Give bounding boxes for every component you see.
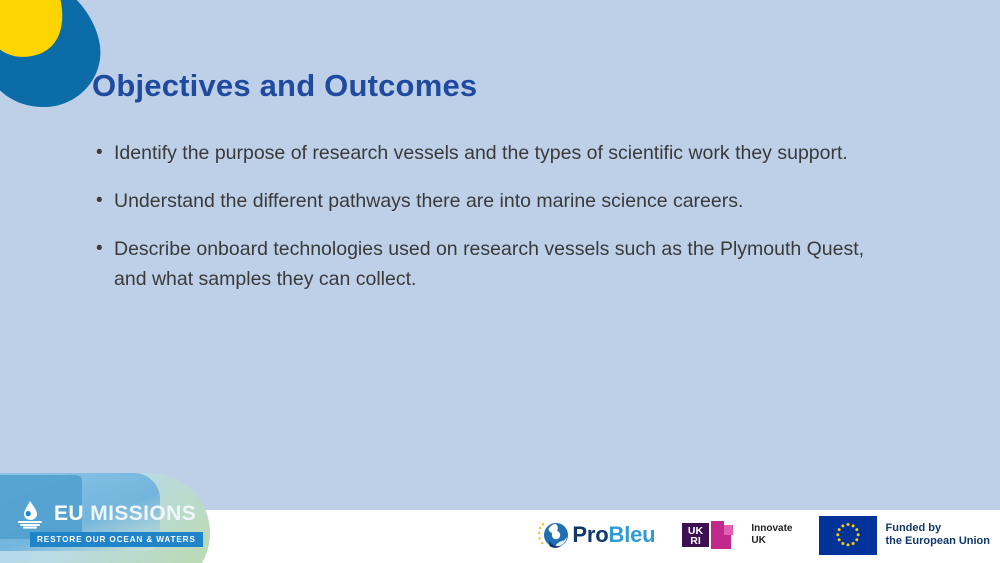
list-item: • Describe onboard technologies used on … <box>92 234 882 294</box>
probleu-word-bleu: Bleu <box>609 522 656 547</box>
innovate-uk-logo: UK RI Innovate UK <box>681 519 792 551</box>
bullet-marker-icon: • <box>92 138 114 168</box>
page-title: Objectives and Outcomes <box>92 68 477 104</box>
eu-funding-logo: Funded by the European Union <box>819 516 991 555</box>
eu-missions-tagline: RESTORE OUR OCEAN & WATERS <box>30 532 203 547</box>
eu-missions-header: EU MISSIONS <box>14 499 224 529</box>
list-item-text: Identify the purpose of research vessels… <box>114 138 882 168</box>
ukri-logo-icon: UK RI <box>681 519 743 551</box>
list-item: • Identify the purpose of research vesse… <box>92 138 882 168</box>
eu-missions-content: EU MISSIONS RESTORE OUR OCEAN & WATERS <box>14 499 224 547</box>
bullet-marker-icon: • <box>92 186 114 216</box>
probleu-swirl-icon <box>537 519 569 551</box>
eu-missions-logo: EU MISSIONS RESTORE OUR OCEAN & WATERS <box>0 453 250 563</box>
eu-funding-label: Funded by the European Union <box>886 522 991 549</box>
innovate-uk-label-line1: Innovate <box>751 523 792 535</box>
eu-missions-title-eu: EU <box>54 502 84 525</box>
list-item-text: Understand the different pathways there … <box>114 186 882 216</box>
eu-funding-label-line1: Funded by <box>886 522 991 536</box>
innovate-uk-label: Innovate UK <box>751 523 792 547</box>
bullet-marker-icon: • <box>92 234 114 264</box>
innovate-uk-label-line2: UK <box>751 535 792 547</box>
funder-logos: ProBleu UK RI Innovate UK <box>537 515 990 555</box>
eu-funding-label-line2: the European Union <box>886 535 991 549</box>
list-item-text: Describe onboard technologies used on re… <box>114 234 882 294</box>
water-drop-waves-icon <box>14 499 46 529</box>
probleu-wordmark: ProBleu <box>572 522 655 548</box>
eu-missions-title: EU MISSIONS <box>54 502 196 526</box>
probleu-word-pro: Pro <box>572 522 608 547</box>
eu-missions-title-missions: MISSIONS <box>90 502 196 525</box>
probleu-logo: ProBleu <box>537 519 655 551</box>
list-item: • Understand the different pathways ther… <box>92 186 882 216</box>
slide-canvas: Objectives and Outcomes • Identify the p… <box>0 0 1000 563</box>
eu-flag-icon <box>819 516 877 555</box>
svg-text:RI: RI <box>691 535 702 547</box>
objectives-list: • Identify the purpose of research vesse… <box>92 138 882 312</box>
